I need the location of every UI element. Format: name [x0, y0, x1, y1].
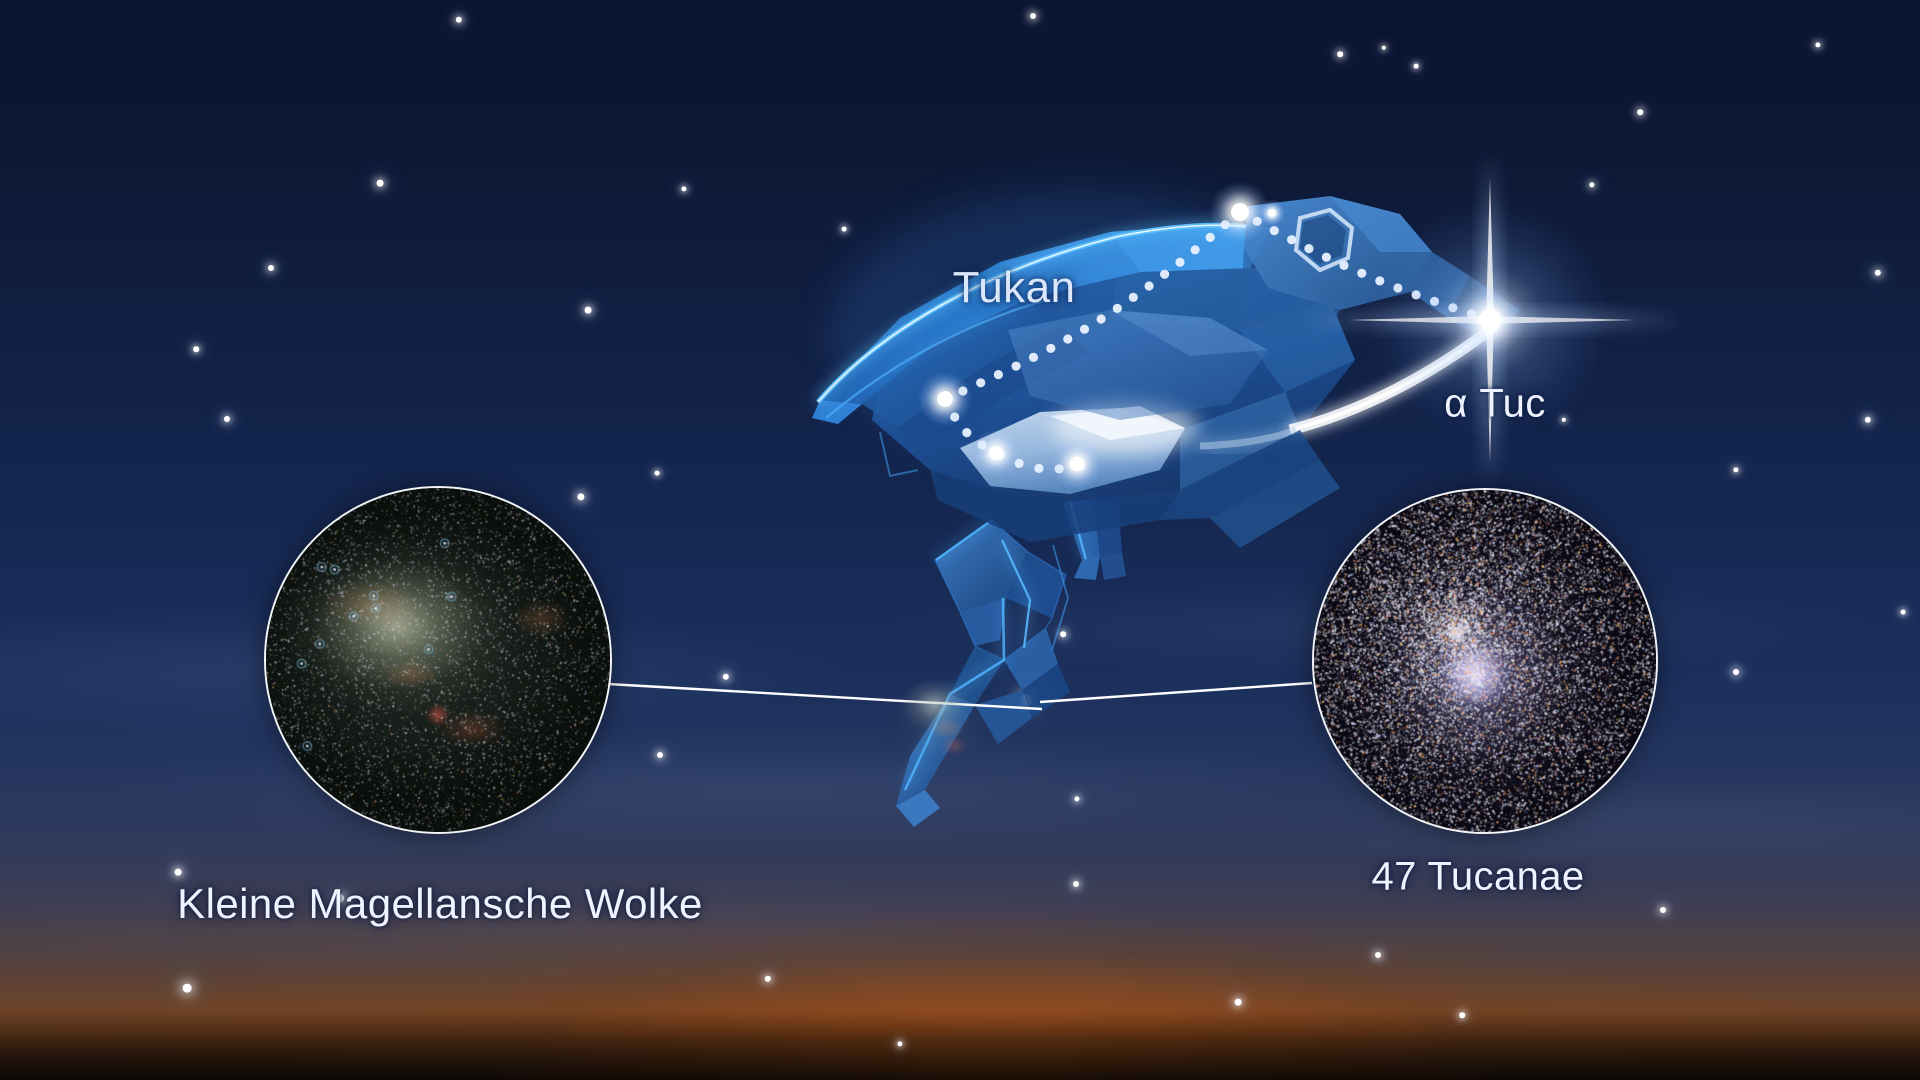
smc-sky-object	[881, 668, 1007, 776]
constellation-line-dot	[1287, 235, 1296, 244]
constellation-line-dot	[1206, 233, 1215, 242]
constellation-star	[1268, 209, 1276, 217]
constellation-line-dot	[1113, 304, 1122, 313]
constellation-line-dot	[1304, 244, 1313, 253]
constellation-line-dot	[994, 370, 1003, 379]
constellation-line-dot	[962, 428, 971, 437]
constellation-line-dot	[1012, 362, 1021, 371]
47tuc-star-grain	[1312, 488, 1658, 834]
constellation-label: Tukan	[953, 263, 1076, 313]
inset-label-47tuc: 47 Tucanae	[1371, 855, 1584, 900]
constellation-line-dot	[1129, 293, 1138, 302]
sky-chart-stage: Tukan α Tuc Kleine Magellansche Wolke 47…	[0, 0, 1920, 1080]
constellation-line-dot	[1322, 253, 1331, 262]
constellation-line-dot	[1270, 226, 1279, 235]
bright-star-label: α Tuc	[1444, 382, 1545, 427]
constellation-star	[1070, 457, 1085, 472]
constellation-star	[989, 446, 1003, 460]
constellation-star	[937, 391, 953, 407]
inset-circle-smc[interactable]	[264, 486, 612, 834]
constellation-line-dot	[976, 378, 985, 387]
constellation-line-dot	[1046, 344, 1055, 353]
inset-label-smc: Kleine Magellansche Wolke	[160, 877, 720, 931]
leader-line-47tuc	[1040, 683, 1312, 702]
inset-circle-47tuc[interactable]	[1312, 488, 1658, 834]
constellation-star	[1231, 203, 1249, 221]
constellation-line-dot	[1097, 314, 1106, 323]
constellation-line-dot	[1357, 269, 1366, 278]
alpha-tuc-star	[1300, 150, 1690, 490]
constellation-line-dot	[1339, 261, 1348, 270]
constellation-line-dot	[1080, 325, 1089, 334]
constellation-line-dot	[1175, 258, 1184, 267]
constellation-line-dot	[1191, 245, 1200, 254]
constellation-line-dot	[1145, 281, 1154, 290]
smc-star-grain	[264, 486, 612, 834]
constellation-line-dot	[1063, 334, 1072, 343]
constellation-line-dot	[1029, 353, 1038, 362]
constellation-line-dot	[1034, 464, 1043, 473]
constellation-line-dot	[1160, 270, 1169, 279]
